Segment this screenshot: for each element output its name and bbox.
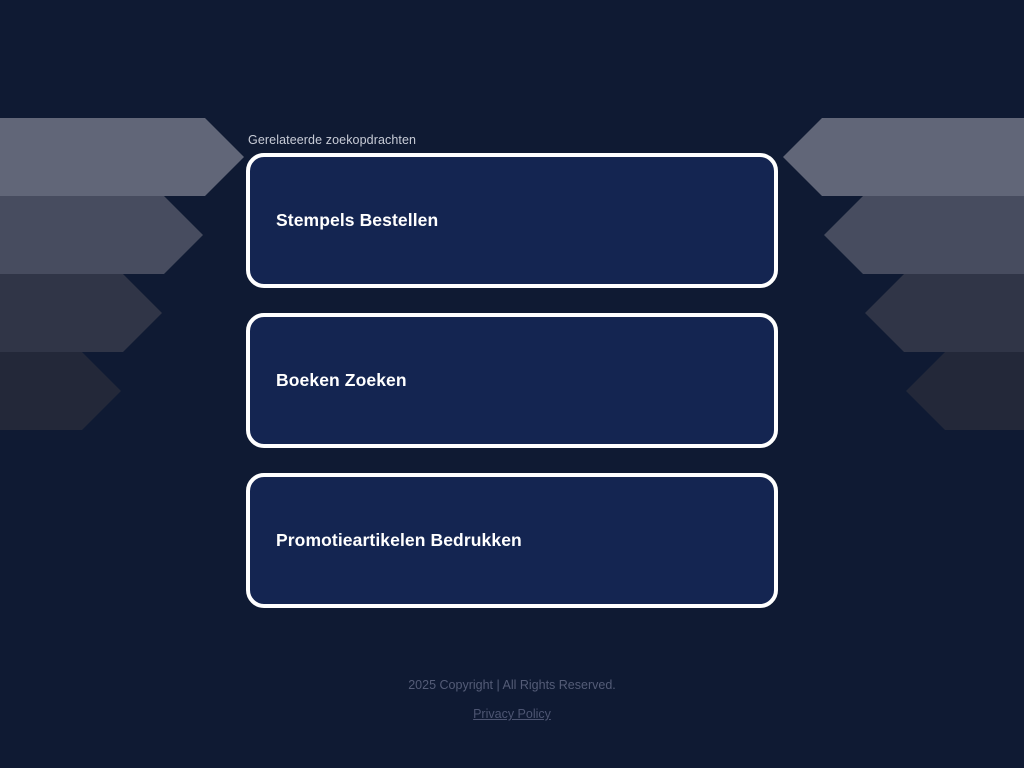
related-search-card-1[interactable]: Stempels Bestellen xyxy=(246,153,778,288)
privacy-policy-link[interactable]: Privacy Policy xyxy=(473,707,551,721)
related-search-card-title: Stempels Bestellen xyxy=(250,210,438,231)
related-searches-label: Gerelateerde zoekopdrachten xyxy=(248,132,416,148)
page-content: Gerelateerde zoekopdrachten Stempels Bes… xyxy=(0,0,1024,768)
related-search-card-3[interactable]: Promotieartikelen Bedrukken xyxy=(246,473,778,608)
page-footer: 2025 Copyright | All Rights Reserved. Pr… xyxy=(0,676,1024,723)
related-search-card-title: Promotieartikelen Bedrukken xyxy=(250,530,522,551)
related-search-card-title: Boeken Zoeken xyxy=(250,370,407,391)
related-searches-list: Stempels Bestellen Boeken Zoeken Promoti… xyxy=(246,153,778,608)
related-search-card-2[interactable]: Boeken Zoeken xyxy=(246,313,778,448)
copyright-text: 2025 Copyright | All Rights Reserved. xyxy=(0,676,1024,694)
